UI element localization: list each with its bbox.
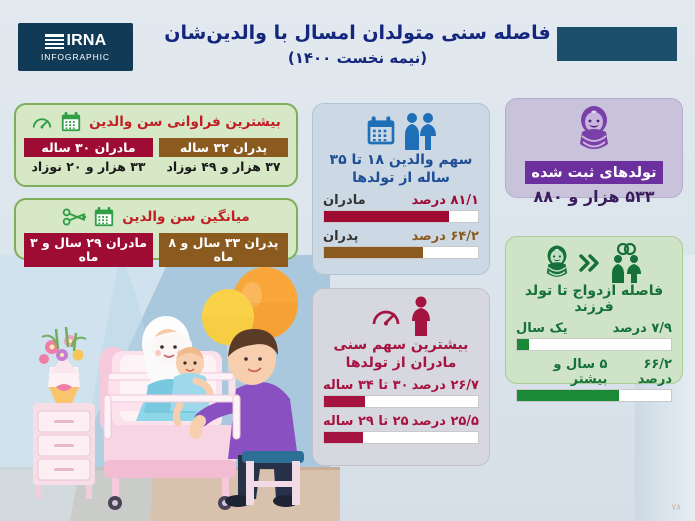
father-label: پدران ۳۳ سال و ۸ ماه xyxy=(159,233,288,267)
irna-lines-icon xyxy=(45,34,64,49)
gauge-icon xyxy=(31,111,53,133)
title-block: فاصله سنی متولدان امسال با والدین‌شان (ن… xyxy=(150,22,565,67)
card-mother-share-icons xyxy=(323,296,479,336)
card-avg-header: میانگین سن والدین xyxy=(24,205,288,229)
mshare-row2-bar xyxy=(323,431,479,444)
calendar-icon xyxy=(364,115,398,147)
father-label: پدران ۳۲ ساله xyxy=(159,138,288,157)
card-mother-age-share: بیشترین سهم سنی مادران از تولدها ۲۶/۷ در… xyxy=(312,288,490,466)
gap-row2-bar xyxy=(516,389,672,402)
card-parents-share-18-35: سهم والدین ۱۸ تا ۳۵ ساله از تولدها ۸۱/۱ … xyxy=(312,103,490,275)
mshare-row1-pct: ۲۶/۷ درصد xyxy=(412,378,479,393)
mshare-row2-pct: ۲۵/۵ درصد xyxy=(412,414,479,429)
card-registered-births: تولدهای ثبت شده ۵۳۳ هزار و ۸۸۰ xyxy=(505,98,683,198)
registered-births-value: ۵۳۳ هزار و ۸۸۰ xyxy=(512,187,676,206)
gauge-icon xyxy=(369,300,403,332)
father-value: ۳۷ هزار و ۴۹ نوزاد xyxy=(159,157,288,174)
card-gap-title: فاصله ازدواج تا تولد فرزند xyxy=(516,283,672,315)
logo-wordmark: IRNA xyxy=(67,32,107,50)
infographic-canvas: IRNA INFOGRAPHIC فاصله سنی متولدان امسال… xyxy=(0,0,695,521)
card-mother-share-title-1: بیشترین سهم سنی xyxy=(323,336,479,354)
page-subtitle: (نیمه نخست ۱۴۰۰) xyxy=(150,49,565,67)
header-accent-block xyxy=(557,27,677,61)
couple-icon xyxy=(403,111,439,151)
scissors-icon xyxy=(62,207,86,227)
card-freq-header: بیشترین فراوانی سن والدین xyxy=(24,110,288,134)
gap-row1-pct: ۷/۹ درصد xyxy=(613,321,672,336)
registered-births-badge: تولدهای ثبت شده xyxy=(525,161,662,184)
calendar-icon xyxy=(60,111,82,133)
card-avg-items: پدران ۳۳ سال و ۸ ماه مادران ۲۹ سال و ۳ م… xyxy=(24,233,288,267)
mshare-row1-labels: ۲۶/۷ درصد ۳۰ تا ۳۴ ساله xyxy=(323,378,479,393)
card-freq-item-father: پدران ۳۲ ساله ۳۷ هزار و ۴۹ نوزاد xyxy=(159,138,288,174)
share-father-who: پدران xyxy=(323,229,358,244)
page-title: فاصله سنی متولدان امسال با والدین‌شان xyxy=(150,22,565,46)
mother-label: مادران ۳۰ ساله xyxy=(24,138,153,157)
watermark: ۷۸ xyxy=(671,502,681,513)
nightstand xyxy=(33,403,95,499)
mshare-row2-labels: ۲۵/۵ درصد ۲۵ تا ۲۹ ساله xyxy=(323,414,479,429)
gap-row1-labels: ۷/۹ درصد یک سال xyxy=(516,321,672,336)
gap-row1-who: یک سال xyxy=(516,321,568,336)
card-avg-item-mother: مادران ۲۹ سال و ۳ ماه xyxy=(24,233,153,267)
share-row-father-labels: ۶۴/۲ درصد پدران xyxy=(323,229,479,244)
calendar-icon xyxy=(93,206,115,228)
logo-subtitle: INFOGRAPHIC xyxy=(41,52,110,62)
gap-row2-who: ۵ سال و بیشتر xyxy=(516,357,607,387)
mshare-row2-who: ۲۵ تا ۲۹ ساله xyxy=(323,414,409,429)
share-father-pct: ۶۴/۲ درصد xyxy=(412,229,479,244)
irna-logo: IRNA INFOGRAPHIC xyxy=(18,23,133,71)
stool xyxy=(242,451,304,505)
swaddled-baby-icon xyxy=(572,105,616,155)
gap-row2-labels: ۶۶/۲ درصد ۵ سال و بیشتر xyxy=(516,357,672,387)
card-freq-item-mother: مادران ۳۰ ساله ۳۳ هزار و ۲۰ نوزاد xyxy=(24,138,153,174)
mother-value: ۳۳ هزار و ۲۰ نوزاد xyxy=(24,157,153,174)
chevrons-icon xyxy=(578,252,602,274)
card-mother-share-title-2: مادران از تولدها xyxy=(323,354,479,372)
card-avg-title: میانگین سن والدین xyxy=(122,209,249,225)
mshare-row1-bar xyxy=(323,395,479,408)
swaddled-baby-icon xyxy=(541,243,573,283)
card-freq-title: بیشترین فراوانی سن والدین xyxy=(89,114,281,130)
share-mother-pct: ۸۱/۱ درصد xyxy=(412,193,479,208)
card-avg-item-father: پدران ۳۳ سال و ۸ ماه xyxy=(159,233,288,267)
card-gap-icons xyxy=(516,243,672,283)
couple-rings-icon xyxy=(607,243,647,283)
card-freq-items: پدران ۳۲ ساله ۳۷ هزار و ۴۹ نوزاد مادران … xyxy=(24,138,288,174)
gap-row2-pct: ۶۶/۲ درصد xyxy=(607,357,672,387)
card-share-title: سهم والدین ۱۸ تا ۳۵ ساله از تولدها xyxy=(323,151,479,187)
gap-row1-bar xyxy=(516,338,672,351)
mother-label: مادران ۲۹ سال و ۳ ماه xyxy=(24,233,153,267)
woman-icon xyxy=(408,295,434,337)
share-father-bar xyxy=(323,246,479,259)
hospital-room-illustration xyxy=(0,255,330,521)
share-row-mother-labels: ۸۱/۱ درصد مادران xyxy=(323,193,479,208)
card-parent-age-average: میانگین سن والدین پدران ۳۳ سال و ۸ ماه xyxy=(14,198,298,260)
card-share-icons xyxy=(323,111,479,151)
card-parent-age-frequency: بیشترین فراوانی سن والدین پدران ۳۲ ساله … xyxy=(14,103,298,187)
mshare-row1-who: ۳۰ تا ۳۴ ساله xyxy=(323,378,409,393)
share-mother-who: مادران xyxy=(323,193,366,208)
share-mother-bar xyxy=(323,210,479,223)
card-marriage-to-birth-gap: فاصله ازدواج تا تولد فرزند ۷/۹ درصد یک س… xyxy=(505,236,683,384)
